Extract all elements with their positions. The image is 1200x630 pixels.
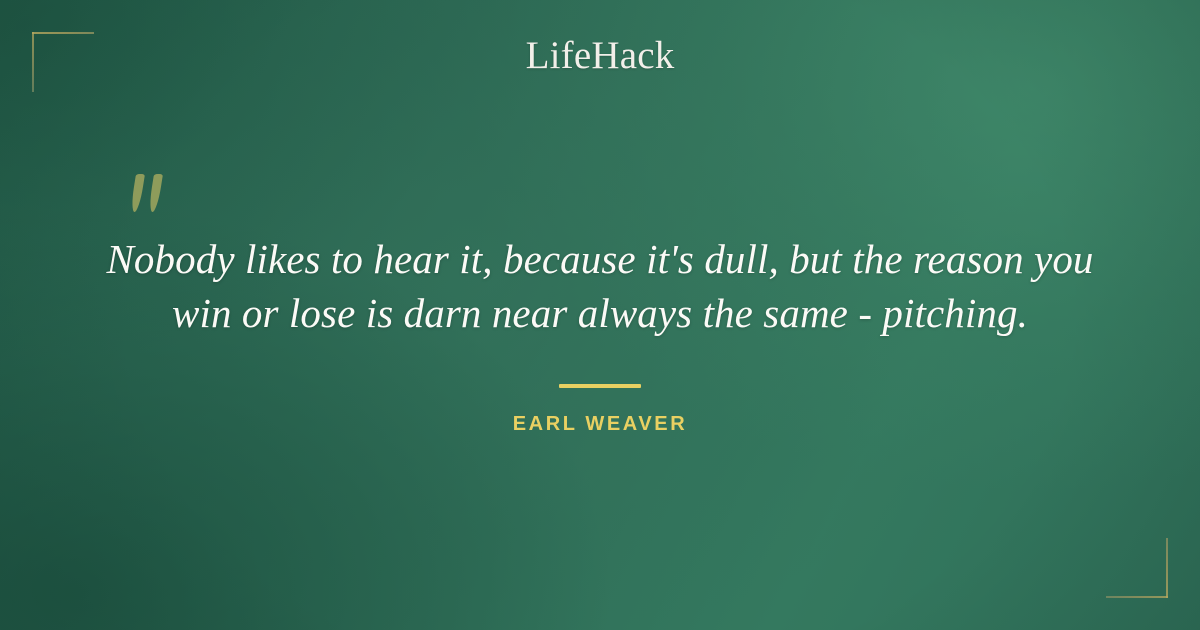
- corner-bracket-bottom-right-icon: [1106, 538, 1168, 598]
- quote-card: LifeHack Nobody likes to hear it, becaus…: [0, 0, 1200, 630]
- corner-bracket-right-line: [1166, 538, 1168, 598]
- quote-stroke-right: [148, 174, 163, 212]
- quote-line-1: Nobody likes to hear it, because it's du…: [92, 232, 1108, 286]
- corner-bracket-bottom-line: [1106, 596, 1168, 598]
- author-attribution: EARL WEAVER: [0, 413, 1200, 436]
- divider-rule: [559, 384, 641, 388]
- quote-text: Nobody likes to hear it, because it's du…: [92, 232, 1108, 340]
- quote-stroke-left: [130, 174, 145, 212]
- double-quote-icon: [129, 168, 181, 220]
- quote-line-2: win or lose is darn near always the same…: [92, 286, 1108, 340]
- corner-bracket-top-line: [32, 32, 94, 34]
- brand-logo: LifeHack: [0, 36, 1200, 75]
